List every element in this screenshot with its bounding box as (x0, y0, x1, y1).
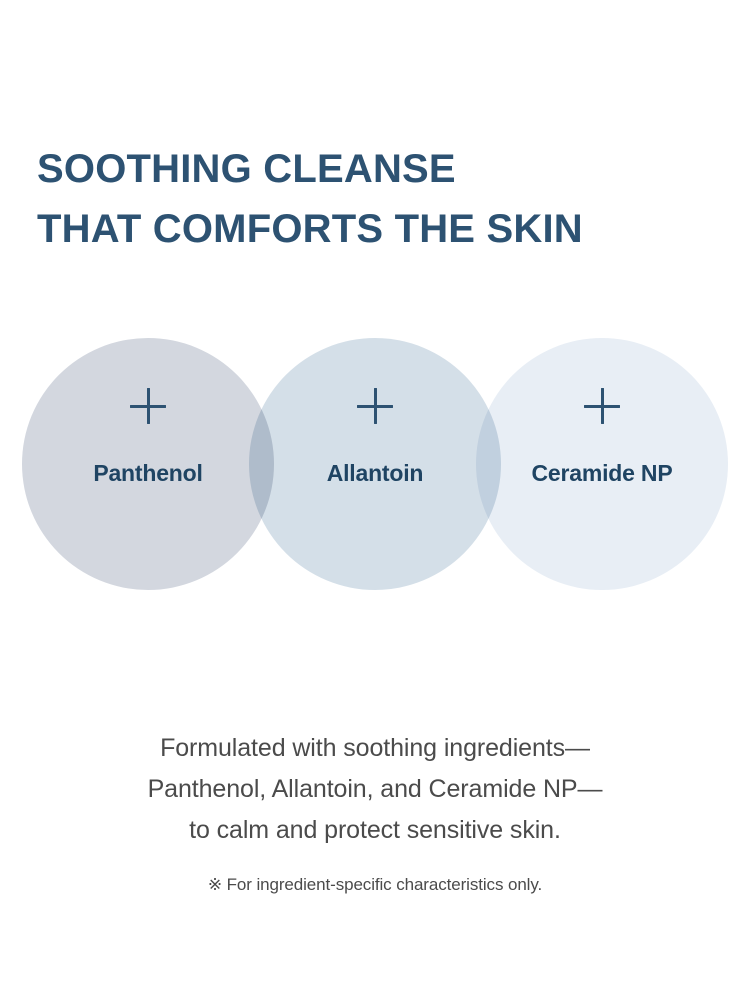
ingredient-circle-ceramide-np (476, 338, 728, 590)
description-line-1: Formulated with soothing ingredients— (0, 728, 750, 769)
page-title-line-2: THAT COMFORTS THE SKIN (37, 199, 583, 259)
description-text: Formulated with soothing ingredients— Pa… (0, 728, 750, 851)
venn-circle-fills (0, 338, 750, 592)
ingredient-venn-diagram: Panthenol Allantoin Ceramide NP (0, 338, 750, 592)
ingredient-circle-allantoin (249, 338, 501, 590)
description-line-2: Panthenol, Allantoin, and Ceramide NP— (0, 769, 750, 810)
page-title: SOOTHING CLEANSE THAT COMFORTS THE SKIN (37, 139, 583, 259)
product-info-panel: SOOTHING CLEANSE THAT COMFORTS THE SKIN … (0, 0, 750, 1000)
ingredient-circle-panthenol (22, 338, 274, 590)
description-line-3: to calm and protect sensitive skin. (0, 810, 750, 851)
footnote-text: ※ For ingredient-specific characteristic… (0, 872, 750, 898)
page-title-line-1: SOOTHING CLEANSE (37, 139, 583, 199)
